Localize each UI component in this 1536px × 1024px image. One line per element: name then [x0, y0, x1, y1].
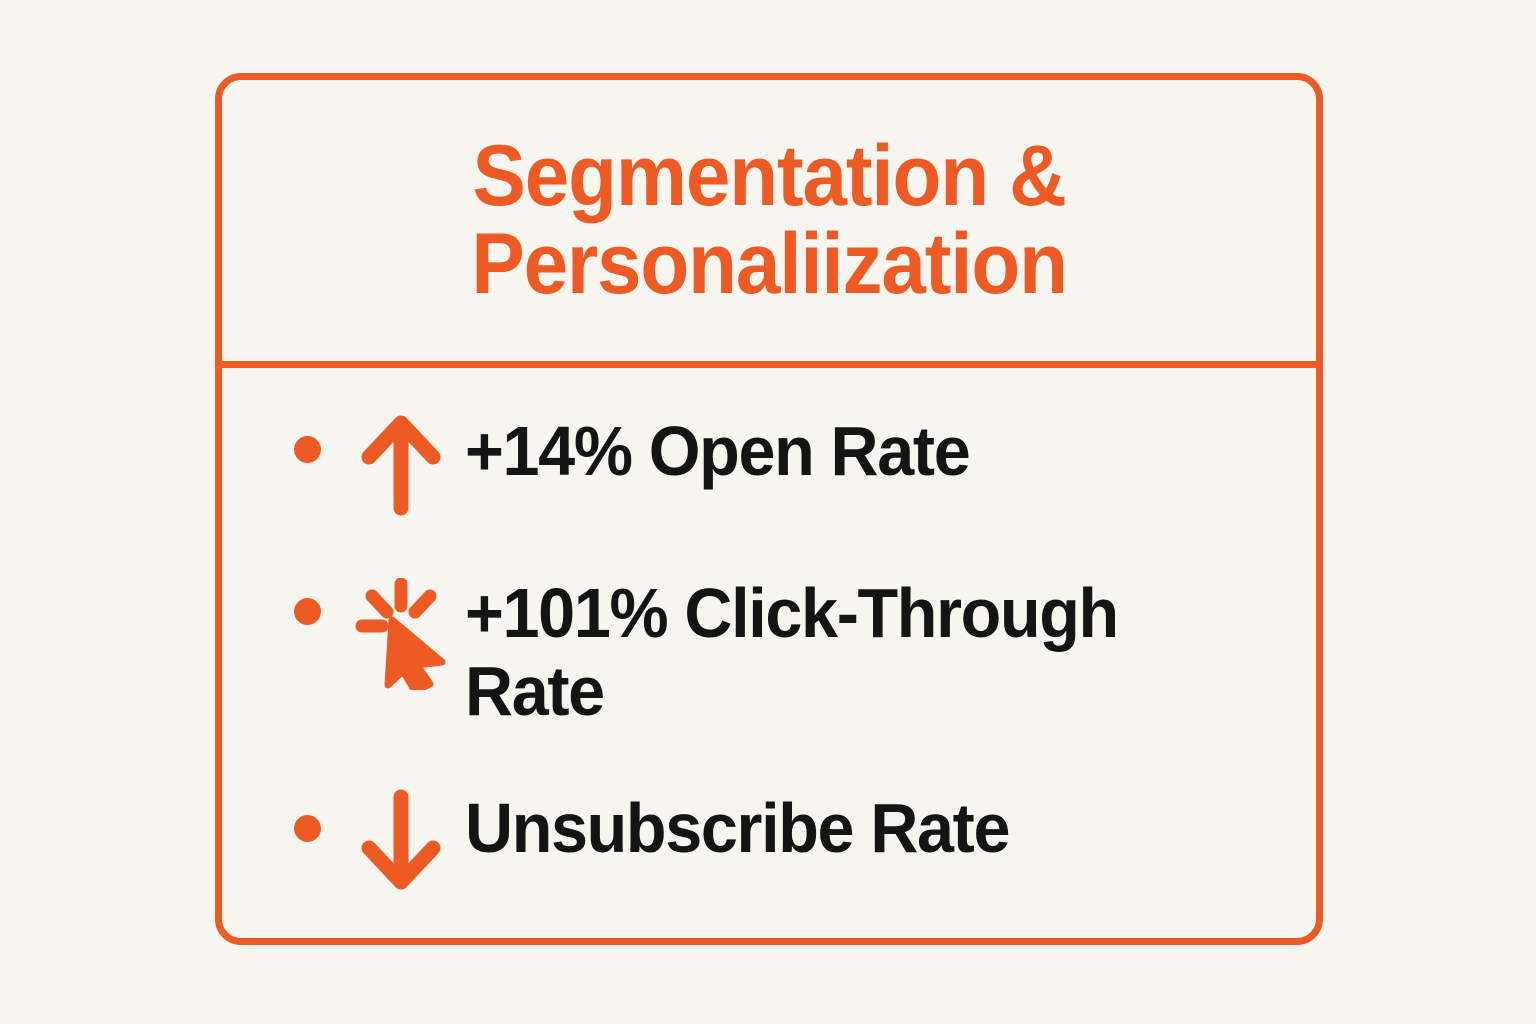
stat-label: +101% Click-Through Rate — [465, 574, 1187, 731]
bullet-dot-icon — [294, 815, 321, 842]
stat-label: Unsubscribe Rate — [465, 789, 1009, 867]
bullet-dot-icon — [294, 436, 321, 463]
card-body: +14% Open Rate +101% Click-Th — [222, 368, 1316, 938]
stat-label: +14% Open Rate — [465, 412, 969, 490]
click-cursor-icon — [353, 578, 449, 682]
list-item: +101% Click-Through Rate — [294, 574, 1276, 731]
segmentation-personalization-card: Segmentation & Personaliization +14% Ope… — [215, 73, 1323, 945]
arrow-down-icon — [353, 789, 449, 893]
page-title: Segmentation & Personaliization — [471, 133, 1066, 308]
stat-list: +14% Open Rate +101% Click-Th — [294, 412, 1276, 893]
list-item: Unsubscribe Rate — [294, 789, 1276, 893]
list-item: +14% Open Rate — [294, 412, 1276, 516]
card-header: Segmentation & Personaliization — [222, 80, 1316, 368]
bullet-dot-icon — [294, 598, 321, 625]
arrow-up-icon — [353, 412, 449, 516]
